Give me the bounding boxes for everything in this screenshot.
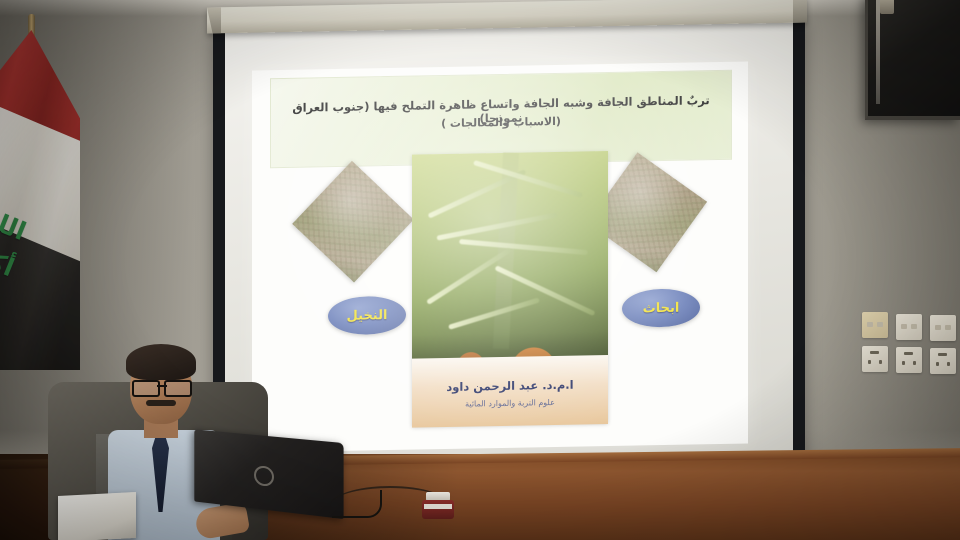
- presenter-affiliation: علوم التربة والموارد المائية: [412, 397, 608, 410]
- slide-button-research[interactable]: ابحاث: [622, 288, 700, 327]
- projected-slide: تربٌ المناطق الجافة وشبه الجافة واتساع ظ…: [252, 61, 748, 452]
- conference-room-scene: الله أكبر: [0, 0, 960, 540]
- flag-fold-shading: [0, 30, 80, 370]
- slide-button-research-label: ابحاث: [643, 300, 680, 316]
- light-switch-3[interactable]: [930, 315, 956, 341]
- stapler-body: [422, 500, 454, 519]
- power-socket-3[interactable]: [930, 348, 956, 374]
- person-hair: [126, 344, 196, 380]
- flag-cloth: الله أكبر: [0, 30, 80, 370]
- stapler-magazine: [424, 504, 452, 509]
- monitor-indicator-icon: [880, 0, 894, 14]
- light-switch-2[interactable]: [896, 314, 922, 340]
- screen-housing-cap-right: [793, 0, 807, 23]
- tissue-box[interactable]: [58, 492, 136, 540]
- screen-housing-cap-left: [207, 7, 221, 33]
- slide-button-palms-label: النخيل: [347, 308, 388, 324]
- monitor-bezel-edge: [876, 0, 880, 104]
- presenter-name: ا.م.د. عبد الرحمن داود: [412, 377, 608, 395]
- eyeglasses-icon: [132, 380, 192, 393]
- wall-switch-panel[interactable]: [862, 312, 958, 404]
- power-socket-1[interactable]: [862, 346, 888, 372]
- person-mustache: [146, 400, 176, 406]
- presenter-name-band: ا.م.د. عبد الرحمن داود علوم التربة والمو…: [412, 355, 608, 428]
- salt-soil-photo-left: [292, 161, 414, 283]
- light-switch-1[interactable]: [862, 312, 888, 338]
- laptop[interactable]: [192, 432, 344, 518]
- slide-button-palms[interactable]: النخيل: [328, 296, 406, 335]
- iraqi-flag: الله أكبر: [0, 14, 92, 374]
- stapler[interactable]: [422, 492, 454, 520]
- power-socket-2[interactable]: [896, 347, 922, 373]
- wall-monitor: [865, 0, 960, 120]
